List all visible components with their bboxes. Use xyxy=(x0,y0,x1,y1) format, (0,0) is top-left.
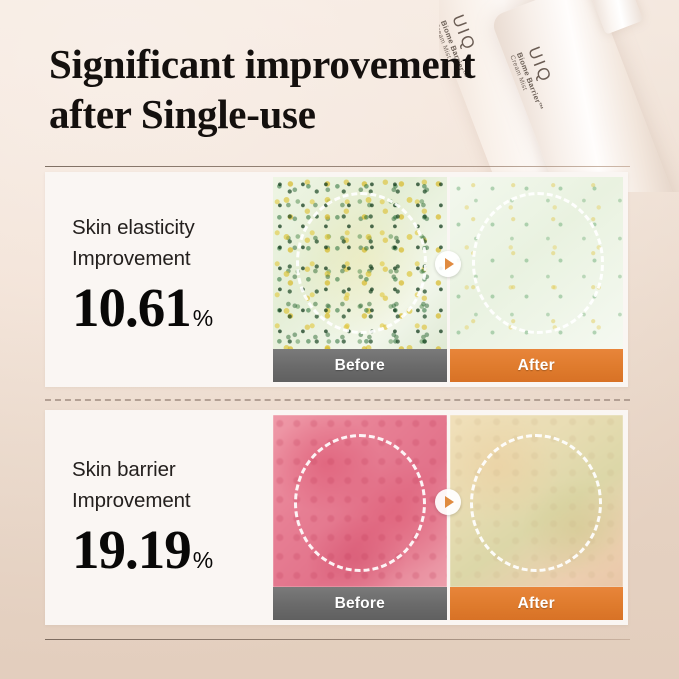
play-arrow-triangle-2 xyxy=(445,496,454,508)
after-photo-1 xyxy=(450,177,624,349)
highlight-circle-after-2 xyxy=(470,434,602,572)
metric-number-2: 19.19 xyxy=(72,522,191,577)
after-label-bar-2: After xyxy=(450,587,624,620)
highlight-circle-after-1 xyxy=(472,192,604,333)
metric-number-1: 10.61 xyxy=(72,280,191,335)
divider-between-cards xyxy=(45,399,630,401)
play-arrow-icon-2 xyxy=(435,489,461,515)
divider-bottom xyxy=(45,639,630,640)
metric-label-line1-1: Skin elasticity xyxy=(72,212,273,243)
page-title: Significant improvement after Single-use xyxy=(49,39,569,139)
highlight-circle-before-2 xyxy=(294,434,426,572)
result-card-skin-barrier: Skin barrier Improvement 19.19 % Before … xyxy=(45,410,628,625)
headline-line-1: Significant improvement xyxy=(49,41,475,87)
before-pane-1: Before xyxy=(273,177,447,382)
metric-label-1: Skin elasticity Improvement xyxy=(72,212,273,274)
comparison-block-1: Before After xyxy=(273,177,623,382)
metric-label-line1-2: Skin barrier xyxy=(72,454,273,485)
play-arrow-triangle-1 xyxy=(445,258,454,270)
before-label-bar-1: Before xyxy=(273,349,447,382)
comparison-block-2: Before After xyxy=(273,415,623,620)
metric-unit-1: % xyxy=(193,305,213,332)
metric-value-2: 19.19 % xyxy=(72,522,273,577)
highlight-circle-before-1 xyxy=(296,192,428,333)
before-label-bar-2: Before xyxy=(273,587,447,620)
after-photo-2 xyxy=(450,415,624,587)
metric-label-line2-1: Improvement xyxy=(72,243,273,274)
after-label-bar-1: After xyxy=(450,349,624,382)
divider-top xyxy=(45,166,630,167)
result-card-skin-elasticity: Skin elasticity Improvement 10.61 % Befo… xyxy=(45,172,628,387)
card-text-block-2: Skin barrier Improvement 19.19 % xyxy=(45,410,273,625)
play-arrow-icon xyxy=(435,251,461,277)
metric-label-2: Skin barrier Improvement xyxy=(72,454,273,516)
headline-line-2: after Single-use xyxy=(49,89,569,139)
after-pane-2: After xyxy=(450,415,624,620)
before-pane-2: Before xyxy=(273,415,447,620)
before-photo-2 xyxy=(273,415,447,587)
after-pane-1: After xyxy=(450,177,624,382)
metric-label-line2-2: Improvement xyxy=(72,485,273,516)
card-text-block-1: Skin elasticity Improvement 10.61 % xyxy=(45,172,273,387)
before-photo-1 xyxy=(273,177,447,349)
metric-unit-2: % xyxy=(193,547,213,574)
metric-value-1: 10.61 % xyxy=(72,280,273,335)
